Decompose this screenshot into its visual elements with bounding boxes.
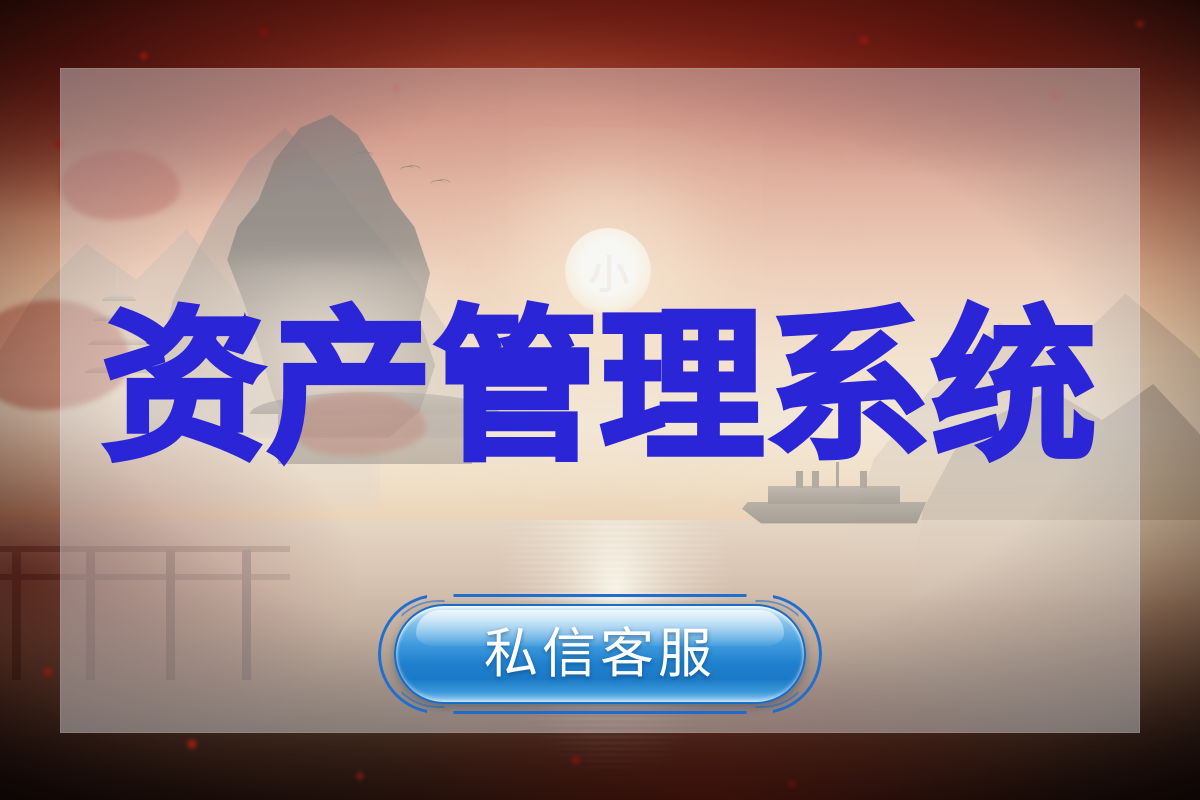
- pier-post: [86, 550, 95, 680]
- promo-poster: 小 资产管理系统: [0, 0, 1200, 800]
- maple-foliage: [60, 150, 180, 220]
- pier-post: [166, 550, 175, 680]
- contact-support-label: 私信客服: [484, 627, 716, 681]
- cta-container: 私信客服: [378, 594, 822, 714]
- ship-hull: [742, 502, 932, 528]
- page-title: 资产管理系统: [0, 306, 1200, 470]
- pier: [0, 500, 290, 680]
- pier-post: [242, 550, 251, 680]
- contact-support-button[interactable]: 私信客服: [394, 604, 806, 704]
- ship-deck: [768, 486, 900, 504]
- pier-post: [12, 550, 21, 680]
